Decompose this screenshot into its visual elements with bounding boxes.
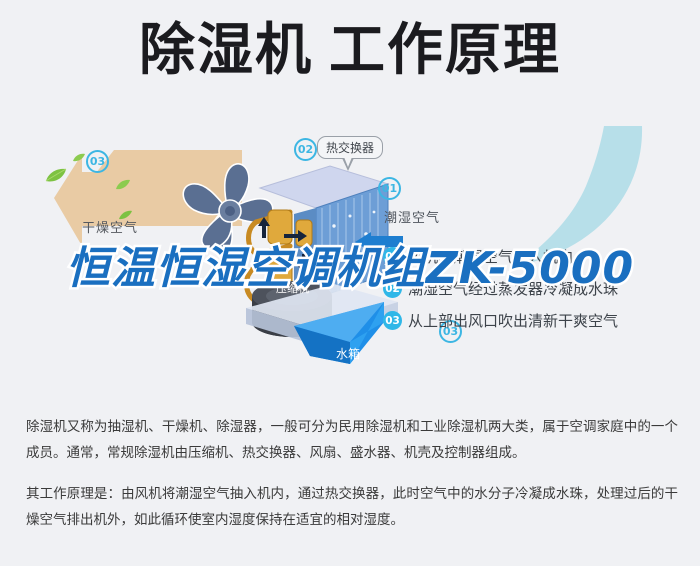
page-title: 除湿机工作原理 [0,22,700,81]
legend-text-03: 从上部出风口吹出清新干爽空气 [408,310,618,331]
leaf-icon [72,150,86,168]
legend-item-03: 03 从上部出风口吹出清新干爽空气 [383,310,683,331]
legend-badge-02: 02 [383,279,402,298]
heat-exchanger-callout: 热交换器 [317,136,383,159]
poster-root: 除湿机工作原理 干燥空气 03 [0,0,700,566]
marker-01-humid-air: 01 [378,177,401,200]
description-block: 除湿机又称为抽湿机、干燥机、除湿器，一般可分为民用除湿机和工业除湿机两大类，属于… [26,414,678,547]
paragraph-1: 除湿机又称为抽湿机、干燥机、除湿器，一般可分为民用除湿机和工业除湿机两大类，属于… [26,414,678,467]
title-part-2: 工作原理 [329,18,561,83]
legend-text-02: 潮湿空气经过蒸发器冷凝成水珠 [408,278,618,299]
paragraph-2: 其工作原理是：由风机将潮湿空气抽入机内，通过热交换器，此时空气中的水分子冷凝成水… [26,481,678,534]
leaf-icon [118,208,133,226]
heat-exchanger-label: 热交换器 [326,141,374,155]
legend-text-01: 风机将潮湿空气抽入机内 [408,246,573,267]
leaf-icon [45,168,67,189]
marker-03-dry-air: 03 [86,150,109,173]
humid-air-label: 潮湿空气 [384,207,440,226]
callout-tail-icon [342,158,354,171]
leaf-icon [115,178,131,196]
legend-list: 01 风机将潮湿空气抽入机内 02 潮湿空气经过蒸发器冷凝成水珠 03 从上部出… [383,246,683,342]
legend-badge-01: 01 [383,247,402,266]
marker-02-heat-exchanger: 02 [294,138,317,161]
water-tank-label: 水箱 [336,345,360,362]
legend-item-02: 02 潮湿空气经过蒸发器冷凝成水珠 [383,278,683,299]
legend-badge-03: 03 [383,311,402,330]
title-part-1: 除湿机 [139,18,313,83]
legend-item-01: 01 风机将潮湿空气抽入机内 [383,246,683,267]
compressor-label: 压缩机 [276,280,309,296]
